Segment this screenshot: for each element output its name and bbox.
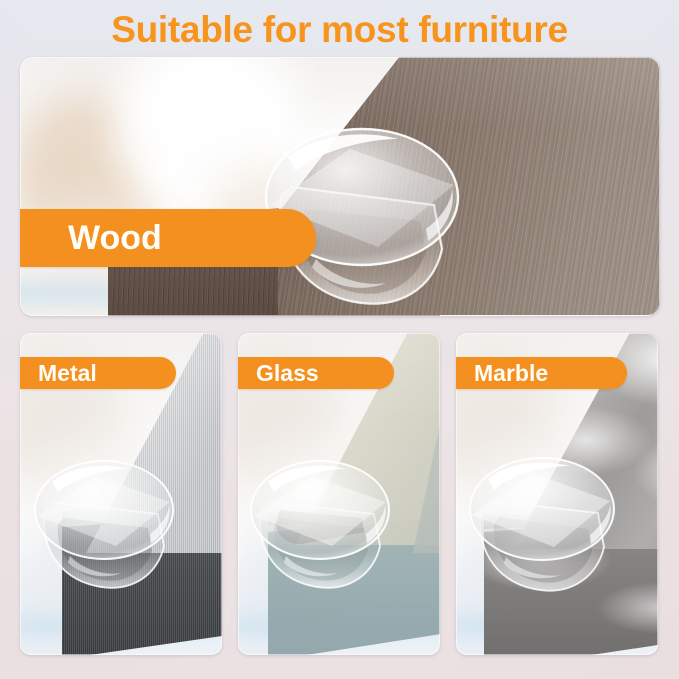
material-card-marble: Marble (456, 333, 658, 655)
material-badge-metal: Metal (20, 357, 176, 389)
corner-guard-marble (464, 445, 634, 600)
material-card-glass: Glass (238, 333, 440, 655)
material-badge-label: Glass (256, 360, 319, 387)
product-infographic: Suitable for most furniture (0, 0, 679, 679)
material-badge-label: Marble (474, 360, 548, 387)
material-badge-label: Metal (38, 360, 97, 387)
material-badge-marble: Marble (456, 357, 627, 389)
material-badge-wood: Wood (20, 209, 316, 267)
corner-guard-glass (246, 448, 406, 598)
page-title: Suitable for most furniture (0, 7, 679, 53)
material-card-wood: Wood (20, 57, 660, 316)
corner-guard-metal (30, 448, 190, 598)
material-badge-glass: Glass (238, 357, 394, 389)
material-badge-label: Wood (68, 219, 162, 258)
material-card-metal: Metal (20, 333, 222, 655)
